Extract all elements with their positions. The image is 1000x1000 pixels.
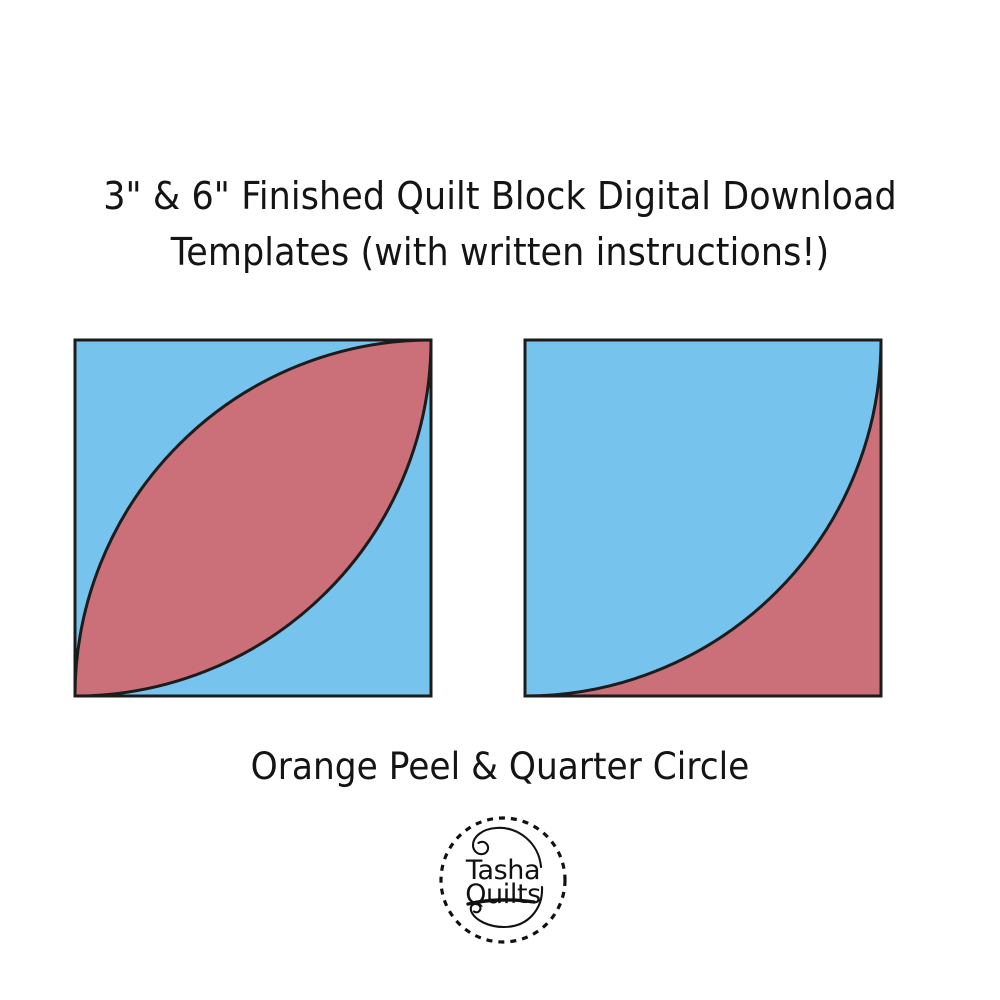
title-line-1: 3" & 6" Finished Quilt Block Digital Dow…: [86, 168, 914, 224]
quilt-block-orange-peel: [72, 337, 434, 699]
page-canvas: 3" & 6" Finished Quilt Block Digital Dow…: [0, 0, 1000, 1000]
logo-text-line-2: Quilts: [465, 879, 541, 910]
blocks-caption: Orange Peel & Quarter Circle: [50, 742, 950, 792]
page-title: 3" & 6" Finished Quilt Block Digital Dow…: [50, 168, 950, 280]
title-line-2: Templates (with written instructions!): [86, 224, 914, 280]
caption-text: Orange Peel & Quarter Circle: [82, 742, 919, 792]
logo-graphic: Tasha Quilts: [438, 815, 568, 945]
quilt-block-quarter-circle: [522, 337, 884, 699]
brand-logo: Tasha Quilts: [438, 815, 568, 945]
